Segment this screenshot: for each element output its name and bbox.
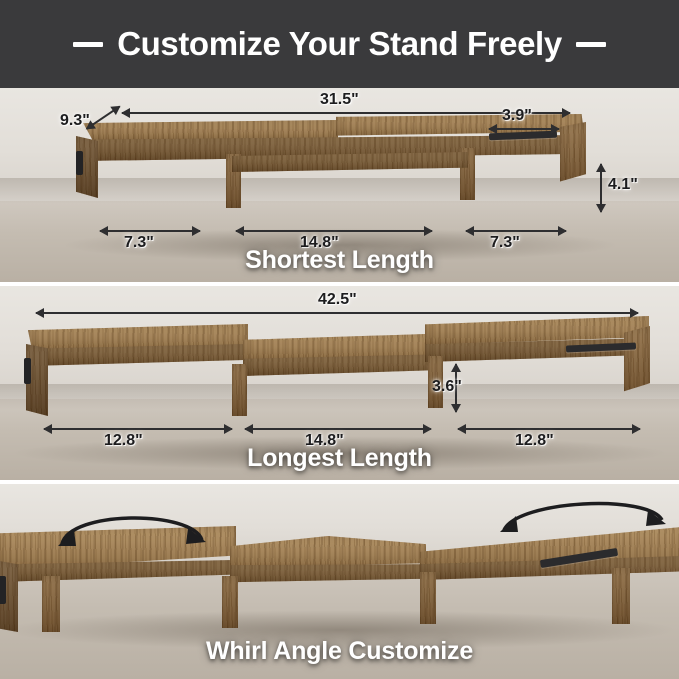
panel-longest-length: 42.5" 3.6" 12.8" 14.8": [0, 286, 679, 480]
cable-clip-left: [76, 151, 83, 175]
dimension-depth-label: 9.3": [60, 112, 90, 130]
page-title: Customize Your Stand Freely: [117, 25, 562, 63]
stand-right-end-panel: [624, 326, 650, 394]
scene-shortest: 31.5" 9.3" 3.9" 4.1": [0, 88, 679, 282]
dimension-height-label: 4.1": [608, 176, 638, 194]
scene-longest: 42.5" 3.6" 12.8" 14.8": [0, 286, 679, 480]
panel-shortest-length: 31.5" 9.3" 3.9" 4.1": [0, 88, 679, 282]
cable-clip-left: [0, 576, 6, 604]
stand-leg-right: [612, 568, 630, 624]
caption-shortest: Shortest Length: [0, 246, 679, 275]
product-infographic: Customize Your Stand Freely: [0, 0, 679, 679]
header-right-dash-icon: [576, 42, 606, 47]
wall-shadow: [0, 384, 679, 410]
stand-leg-center-left: [222, 576, 238, 628]
stand-leg-left: [42, 576, 60, 632]
caption-longest: Longest Length: [0, 444, 679, 473]
wall-shadow: [0, 178, 679, 204]
dimension-riser-gap-label: 3.6": [432, 378, 462, 396]
stand-leg-left: [232, 364, 247, 416]
stand-leg-center-right: [420, 572, 436, 624]
stand-right-end-panel: [560, 122, 586, 184]
caption-whirl: Whirl Angle Customize: [0, 637, 679, 666]
dimension-overall-width-label: 31.5": [320, 91, 359, 109]
scene-whirl: Whirl Angle Customize: [0, 484, 679, 679]
cable-clip-left: [24, 358, 31, 384]
dimension-slot-width-label: 3.9": [502, 107, 532, 125]
header-banner: Customize Your Stand Freely: [0, 0, 679, 88]
panel-whirl-angle: Whirl Angle Customize: [0, 484, 679, 679]
header-left-dash-icon: [73, 42, 103, 47]
dimension-overall-width-label: 42.5": [318, 291, 357, 309]
